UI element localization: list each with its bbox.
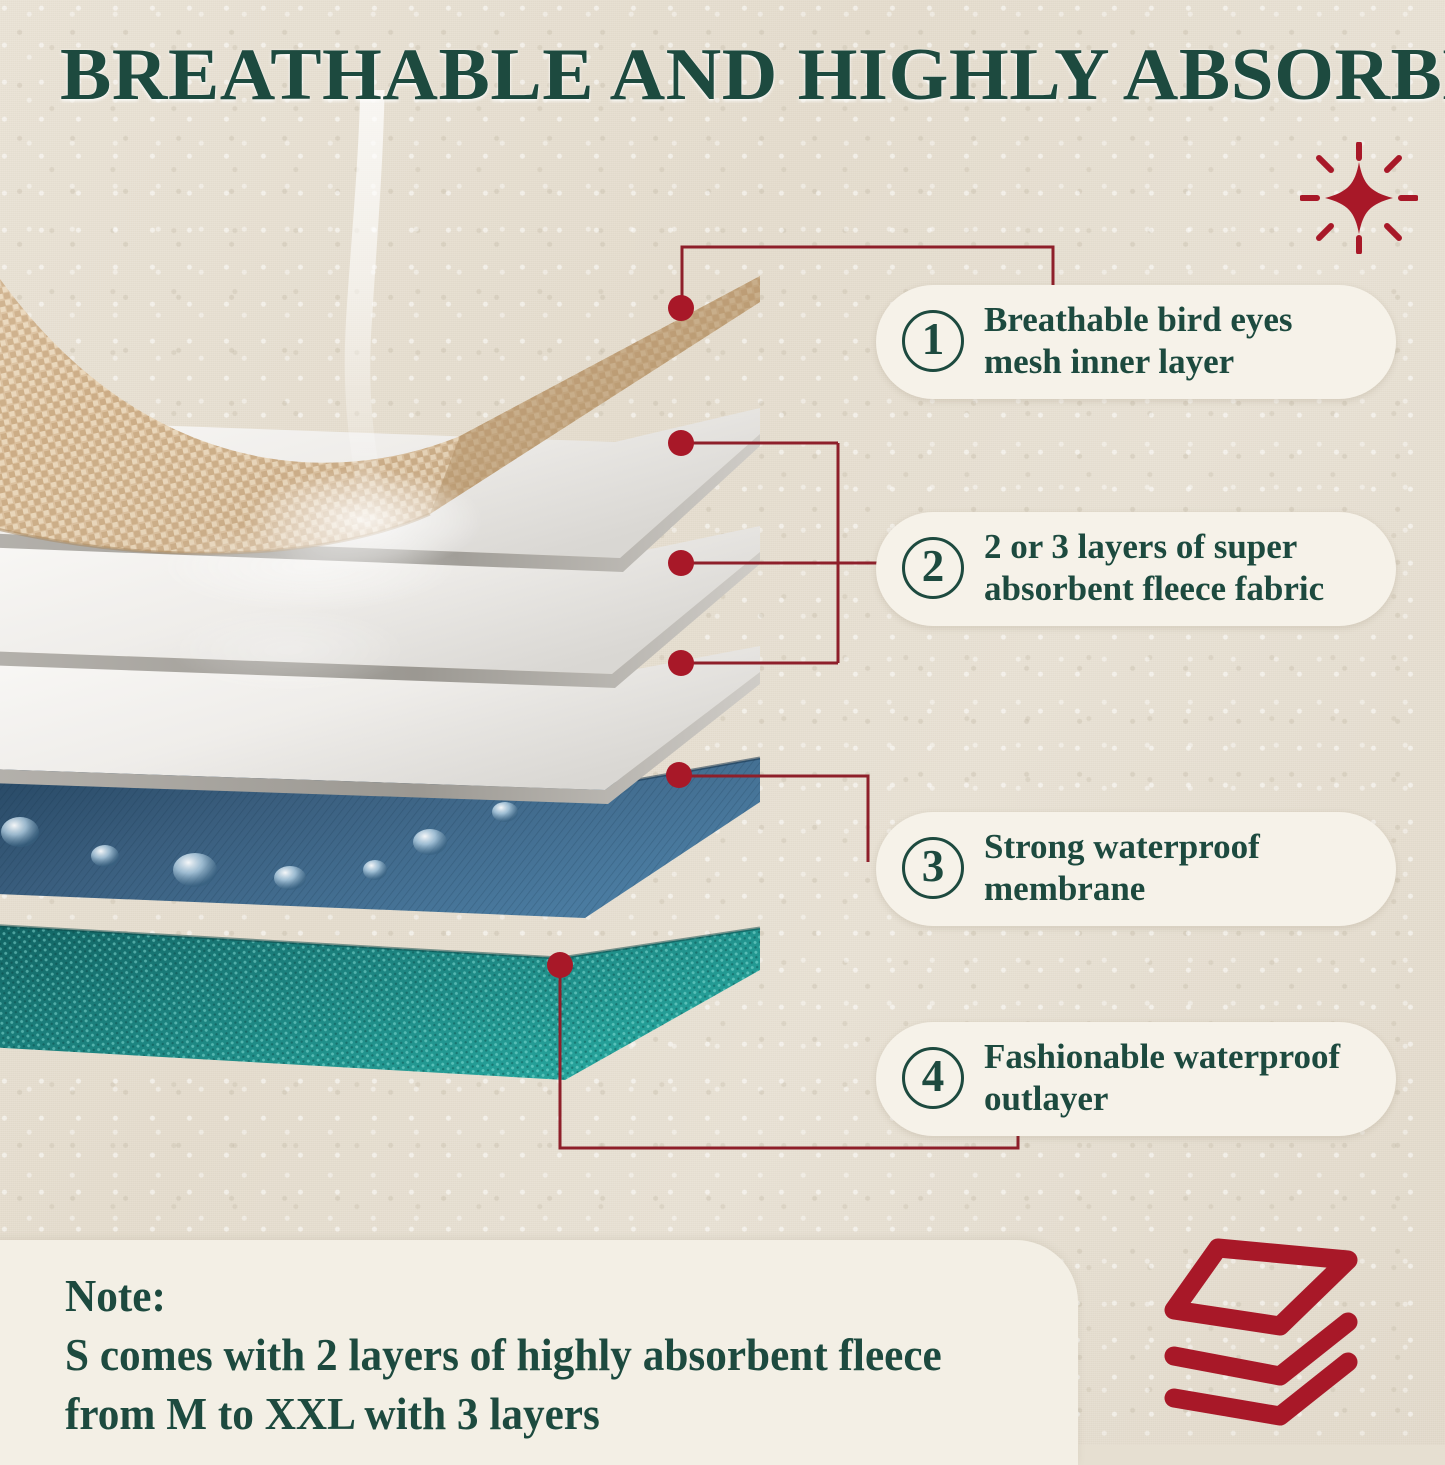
callout-1-number: 1 xyxy=(902,310,964,372)
note-card: Note: S comes with 2 layers of highly ab… xyxy=(0,1240,1078,1465)
callout-1-label: Breathable bird eyes mesh inner layer xyxy=(984,299,1293,383)
waterproof-outlayer-shape xyxy=(0,920,760,1080)
callout-3[interactable]: 3 Strong waterproof membrane xyxy=(876,812,1396,926)
layers-stack-icon xyxy=(1160,1230,1390,1430)
fabric-layer-stack-illustration xyxy=(0,90,800,1160)
note-card-content: Note: S comes with 2 layers of highly ab… xyxy=(65,1266,1050,1443)
infographic-page: BREATHABLE AND HIGHLY ABSORBENT xyxy=(0,0,1445,1445)
callout-4-number: 4 xyxy=(902,1047,964,1109)
fabric-stack-svg xyxy=(0,90,800,1160)
callout-1[interactable]: 1 Breathable bird eyes mesh inner layer xyxy=(876,285,1396,399)
sparkle-icon xyxy=(1300,142,1418,254)
note-heading: Note: xyxy=(65,1266,991,1325)
callout-3-label: Strong waterproof membrane xyxy=(984,826,1260,910)
note-line-2: from M to XXL with 3 layers xyxy=(65,1384,991,1443)
callout-4-label: Fashionable waterproof outlayer xyxy=(984,1036,1340,1120)
callout-2[interactable]: 2 2 or 3 layers of super absorbent fleec… xyxy=(876,512,1396,626)
note-line-1: S comes with 2 layers of highly absorben… xyxy=(65,1325,991,1384)
callout-2-label: 2 or 3 layers of super absorbent fleece … xyxy=(984,526,1324,610)
callout-4[interactable]: 4 Fashionable waterproof outlayer xyxy=(876,1022,1396,1136)
callout-2-number: 2 xyxy=(902,537,964,599)
callout-3-number: 3 xyxy=(902,837,964,899)
page-title: BREATHABLE AND HIGHLY ABSORBENT xyxy=(60,34,1445,116)
